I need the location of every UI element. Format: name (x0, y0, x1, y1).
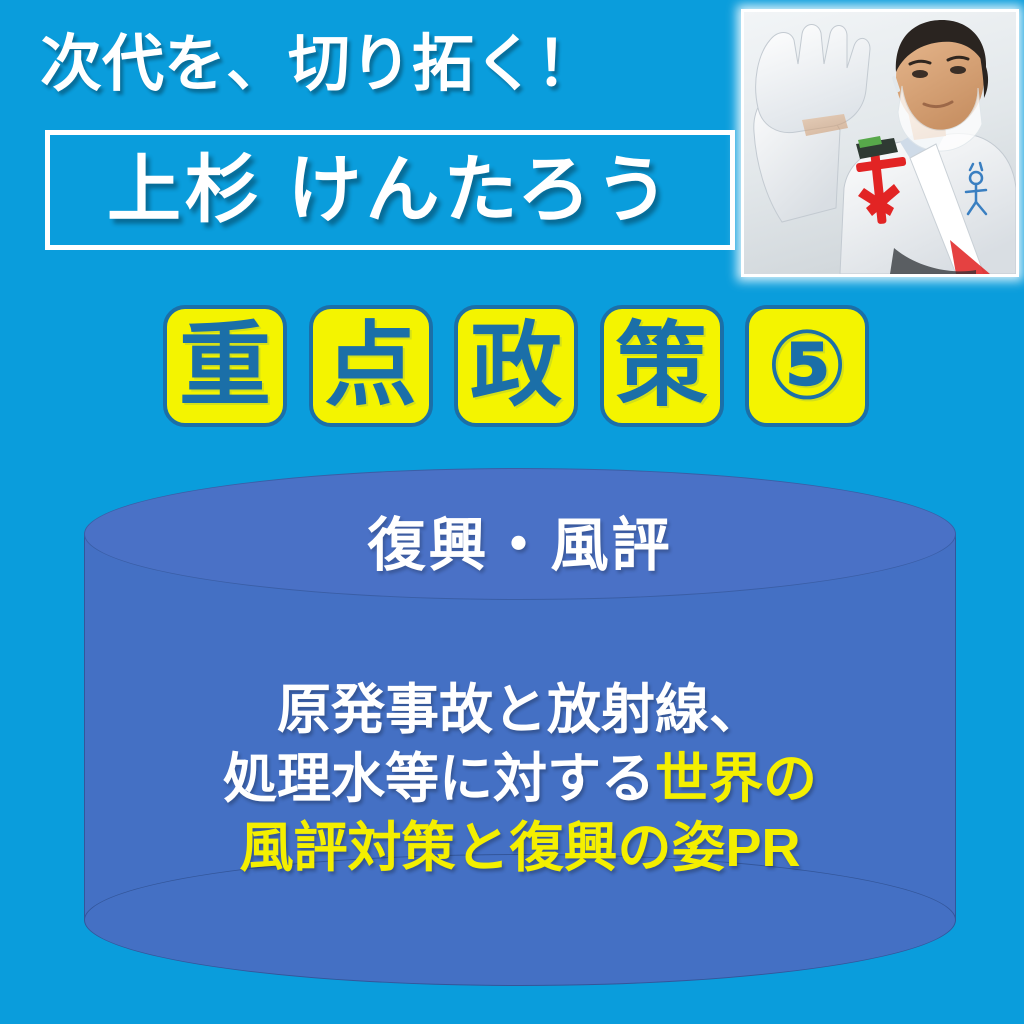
candidate-name: 上杉 けんたろう (107, 153, 673, 227)
campaign-tagline: 次代を、切り拓く！ (40, 32, 730, 97)
policy-cylinder: 復興・風評 原発事故と放射線、 処理水等に対する世界の 風評対策と復興の姿PR (84, 468, 956, 986)
policy-badge-number: ⑤ (745, 305, 869, 427)
policy-body-line-2: 処理水等に対する世界の (84, 745, 956, 814)
policy-body-line-3: 風評対策と復興の姿PR (84, 814, 956, 883)
policy-panel-body: 原発事故と放射線、 処理水等に対する世界の 風評対策と復興の姿PR (84, 676, 956, 883)
policy-badge-char-4: 策 (600, 305, 724, 427)
candidate-photo-frame (741, 9, 1019, 277)
policy-body-line-1: 原発事故と放射線、 (84, 676, 956, 745)
candidate-photo (744, 12, 1016, 274)
policy-body-line-2-highlight: 世界の (655, 749, 817, 809)
policy-badge-char-1: 重 (163, 305, 287, 427)
campaign-poster: 次代を、切り拓く！ 上杉 けんたろう (0, 0, 1024, 1024)
policy-body-line-2-white: 処理水等に対する (223, 749, 655, 809)
policy-badge-row: 重 点 政 策 ⑤ (163, 305, 869, 427)
policy-badge-char-3: 政 (454, 305, 578, 427)
policy-panel-title: 復興・風評 (84, 514, 956, 578)
policy-badge-char-2: 点 (309, 305, 433, 427)
candidate-photo-illustration (744, 12, 1016, 274)
candidate-name-box: 上杉 けんたろう (45, 130, 735, 250)
